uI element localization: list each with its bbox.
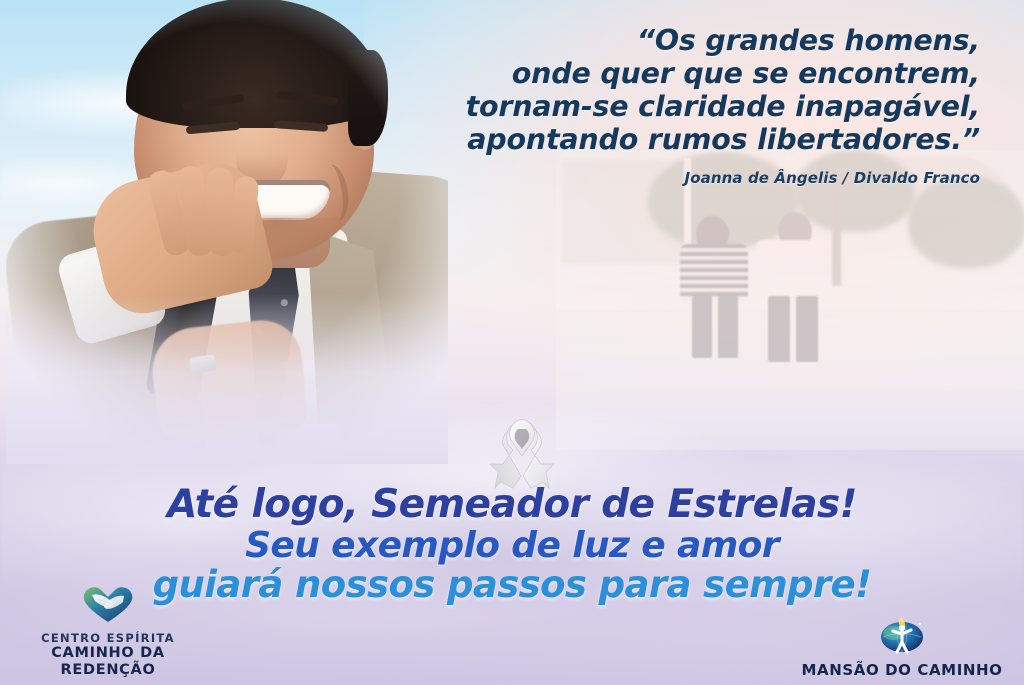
heart-hands-icon [10,584,206,629]
white-ribbon-icon [487,412,557,490]
quote-line-3: tornam-se claridade inapagável, [360,90,980,123]
quote-line-4: apontando rumos libertadores.” [360,123,980,156]
portrait-bottom-fade [6,294,448,464]
logo-centro-espirita: CENTRO ESPÍRITA CAMINHO DA REDENÇÃO [10,584,206,679]
hair [126,0,382,128]
quote-block: “Os grandes homens, onde quer que se enc… [360,24,980,187]
headline-line-1: Até logo, Semeador de Estrelas! [0,484,1024,526]
quote-attribution: Joanna de Ângelis / Divaldo Franco [360,169,980,187]
globe-figure-flame-icon [794,612,1010,659]
quote-line-1: “Os grandes homens, [360,24,980,57]
logo-right-line-1: MANSÃO DO CAMINHO [794,662,1010,679]
logo-left-line-1: CENTRO ESPÍRITA [10,632,206,645]
logo-mansao-do-caminho: MANSÃO DO CAMINHO [794,612,1010,679]
memorial-poster: “Os grandes homens, onde quer que se enc… [0,0,1024,685]
quote-line-2: onde quer que se encontrem, [360,57,980,90]
logo-left-line-2: CAMINHO DA REDENÇÃO [10,645,206,679]
headline-line-2: Seu exemplo de luz e amor [0,526,1024,565]
